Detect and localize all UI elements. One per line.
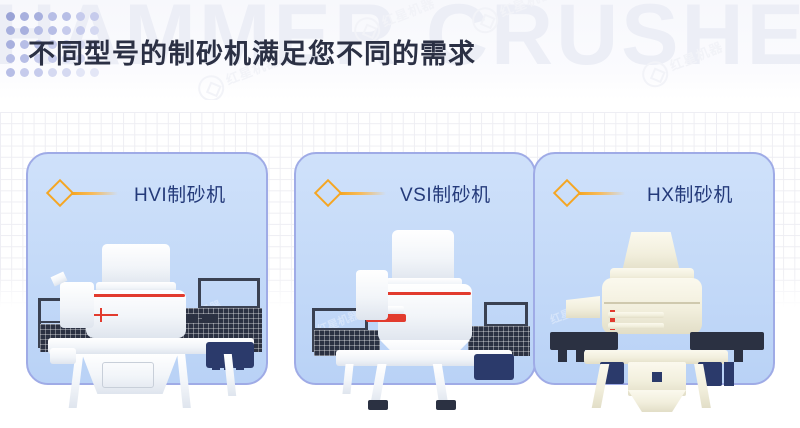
bullet-tail-line — [72, 192, 118, 195]
card-label-row: VSI制砂机 — [318, 180, 491, 206]
bullet-tail-line — [340, 192, 386, 195]
bullet-tail-line — [579, 192, 625, 195]
card-title-vsi: VSI制砂机 — [400, 180, 491, 207]
product-card-hvi[interactable]: HVI制砂机 红星机器 — [26, 152, 268, 385]
card-title-hvi: HVI制砂机 — [134, 180, 226, 207]
card-watermark: 红星机器 — [315, 306, 362, 337]
diamond-bullet-icon — [553, 179, 581, 207]
product-card-hx[interactable]: HX制砂机 红星机器 — [533, 152, 775, 385]
card-watermark: 红星机器 — [177, 296, 224, 327]
card-watermark: 红星机器 — [548, 296, 595, 327]
diamond-bullet-icon — [314, 179, 342, 207]
page-root: HAMMER CRUSHER 红星机器 红星机器 红星机器 红星机器 不同型号的… — [0, 0, 800, 428]
card-label-row: HVI制砂机 — [50, 180, 226, 206]
card-title-hx: HX制砂机 — [647, 180, 733, 207]
product-card-vsi[interactable]: VSI制砂机 红星机器 — [294, 152, 536, 385]
card-label-row: HX制砂机 — [557, 180, 733, 206]
card-list: HVI制砂机 红星机器 VSI制砂机 红星机器 HX制砂机 红星机器 — [0, 0, 800, 428]
diamond-bullet-icon — [46, 179, 74, 207]
